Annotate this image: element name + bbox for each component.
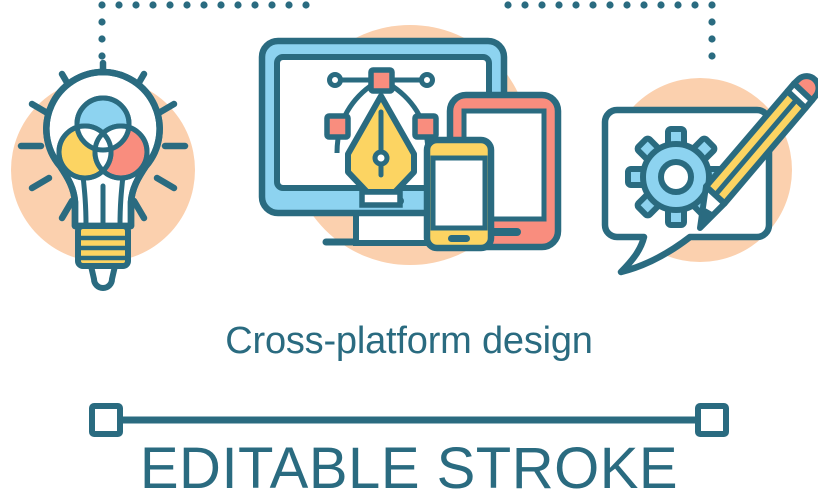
editable-stroke-caption: EDITABLE STROKE	[0, 440, 818, 498]
smartphone-screen	[433, 158, 485, 228]
bezier-anchor-left	[327, 116, 348, 137]
editable-stroke-rule	[92, 406, 726, 434]
stroke-rule-handle-left	[92, 406, 120, 434]
bezier-anchor-top	[371, 70, 392, 91]
illustration-canvas: Cross-platform design EDITABLE STROKE	[0, 0, 818, 500]
right-dotted-bracket	[504, 1, 715, 59]
stroke-rule-handle-right	[698, 406, 726, 434]
bulb-screw-base	[78, 226, 128, 288]
cross-platform-design-illustration	[0, 0, 818, 500]
devices-pen-tool-icon	[262, 41, 558, 248]
pen-nib-foot	[362, 192, 400, 205]
bezier-handle-dot-left	[330, 75, 341, 86]
pen-nib-hole	[375, 152, 387, 164]
bulb-contact-tip	[91, 266, 115, 288]
bezier-anchor-right	[415, 116, 436, 137]
gear-center-hole	[661, 162, 691, 192]
page-title: Cross-platform design	[0, 322, 818, 360]
bezier-handle-dot-right	[422, 75, 433, 86]
smartphone-device-icon	[427, 140, 491, 248]
smartphone-home-button	[448, 235, 470, 242]
